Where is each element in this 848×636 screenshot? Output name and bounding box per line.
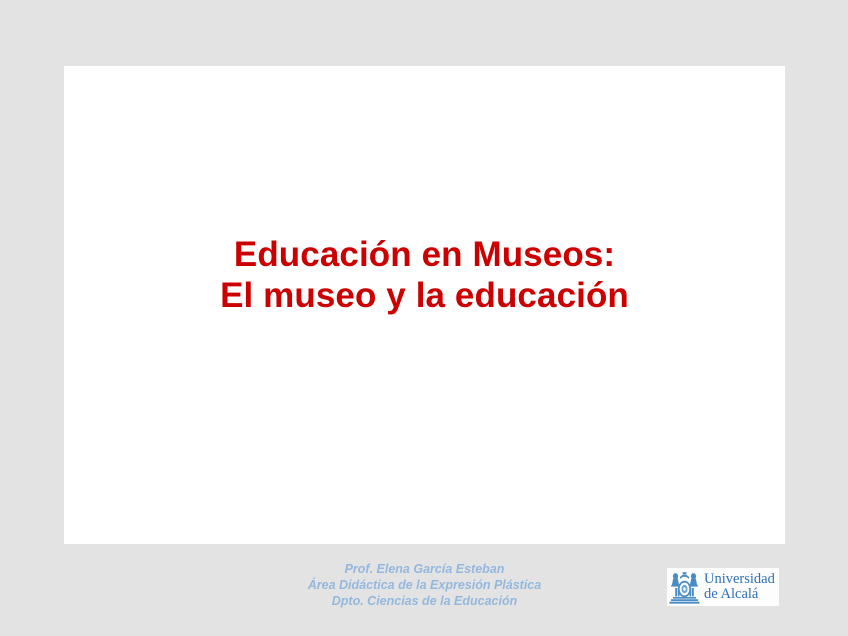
title-line-1: Educación en Museos:: [64, 234, 785, 275]
university-crest-icon: [669, 570, 700, 604]
university-logo: Universidad de Alcalá: [667, 568, 779, 606]
slide-canvas: Educación en Museos: El museo y la educa…: [64, 66, 785, 544]
slide-title: Educación en Museos: El museo y la educa…: [64, 234, 785, 317]
presentation-slide: Educación en Museos: El museo y la educa…: [0, 0, 848, 636]
logo-word-de-alcala: de Alcalá: [704, 587, 775, 602]
title-line-2: El museo y la educación: [64, 275, 785, 316]
logo-word-universidad: Universidad: [704, 572, 775, 587]
logo-wordmark: Universidad de Alcalá: [704, 572, 775, 602]
